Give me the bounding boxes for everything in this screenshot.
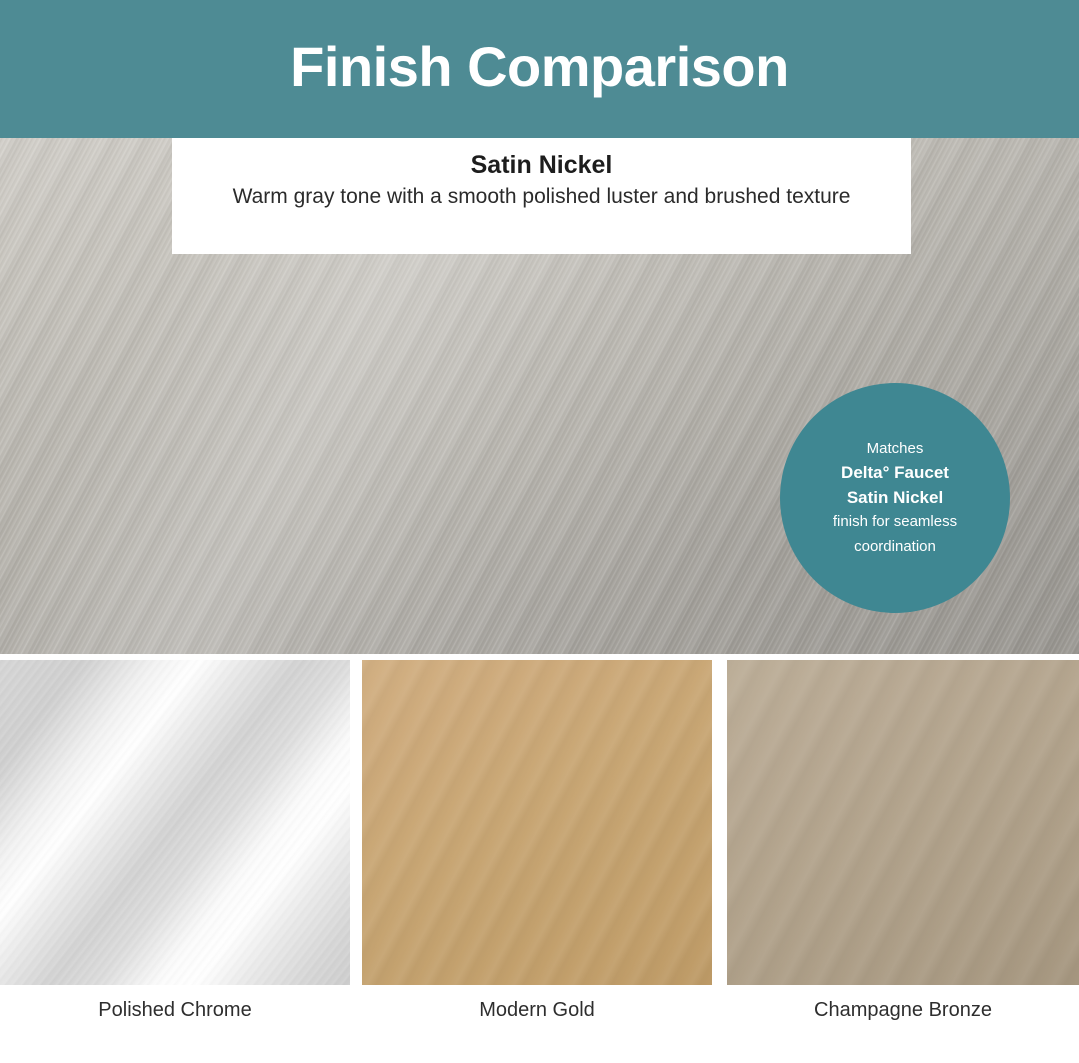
matches-delta-faucet-badge: Matches Delta° Faucet Satin Nickel finis… — [780, 383, 1010, 613]
finish-comparison-page: Finish Comparison Satin Nickel Warm gray… — [0, 0, 1079, 1063]
swatch-streaks-polished-chrome — [0, 660, 350, 985]
swatch-polished-chrome[interactable] — [0, 660, 350, 985]
swatch-label-polished-chrome: Polished Chrome — [0, 998, 350, 1022]
swatch-modern-gold[interactable] — [362, 660, 712, 985]
badge-line-delta-faucet: Delta° Faucet — [841, 461, 949, 486]
badge-line-coordination: coordination — [854, 535, 936, 559]
swatch-label-modern-gold: Modern Gold — [362, 998, 712, 1022]
finish-name: Satin Nickel — [200, 150, 883, 181]
satin-nickel-hero-panel: Satin Nickel Warm gray tone with a smoot… — [0, 138, 1079, 654]
page-title: Finish Comparison — [290, 39, 789, 95]
swatch-streaks-modern-gold — [362, 660, 712, 985]
swatch-streaks-champagne-bronze — [727, 660, 1079, 985]
swatch-champagne-bronze[interactable] — [727, 660, 1079, 985]
header-banner: Finish Comparison — [0, 0, 1079, 138]
badge-line-matches: Matches — [867, 437, 924, 461]
finish-swatch-row: Polished Chrome Modern Gold Champagne Br… — [0, 660, 1079, 1063]
finish-description: Warm gray tone with a smooth polished lu… — [200, 183, 883, 211]
badge-line-finish-for-seamless: finish for seamless — [833, 510, 957, 534]
finish-info-card: Satin Nickel Warm gray tone with a smoot… — [172, 138, 911, 254]
badge-line-satin-nickel: Satin Nickel — [847, 486, 943, 511]
swatch-label-champagne-bronze: Champagne Bronze — [727, 998, 1079, 1022]
